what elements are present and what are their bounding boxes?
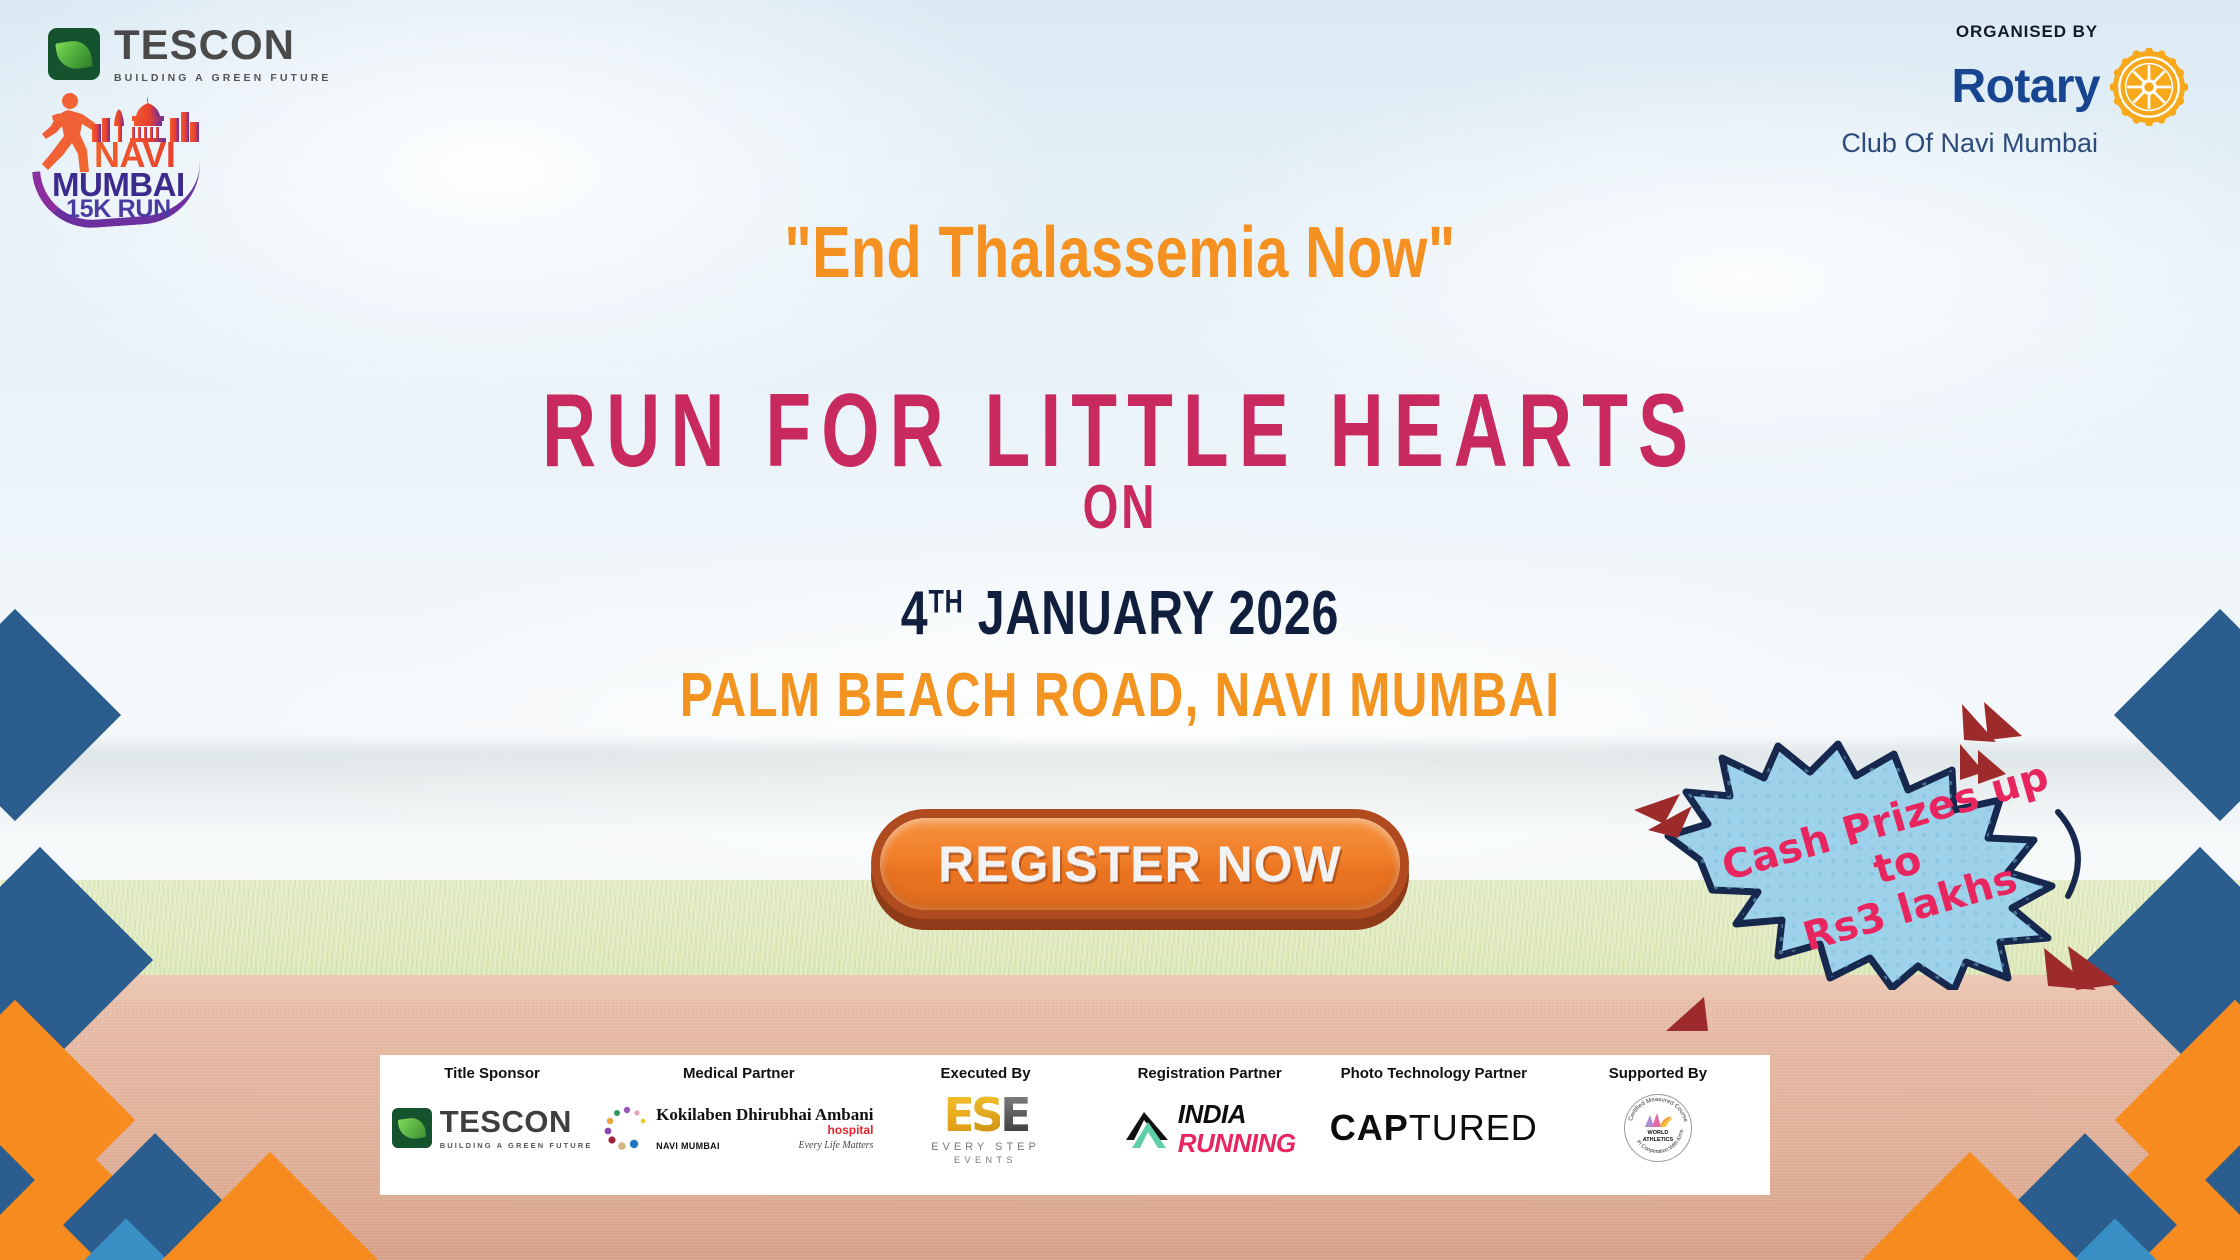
sponsor-caption: Title Sponsor [444, 1065, 540, 1082]
svg-text:Certified Measured Course: Certified Measured Course [1628, 1097, 1688, 1123]
burst-spark-icon [1630, 790, 1720, 850]
organised-by-label: ORGANISED BY [1841, 22, 2098, 42]
kdah-logo-text: Kokilaben Dhirubhai Ambani [656, 1105, 873, 1125]
sponsor-bar: Title Sponsor TESCON BUILDING A GREEN FU… [380, 1055, 1770, 1195]
register-now-button[interactable]: REGISTER NOW [880, 818, 1400, 910]
navi-mumbai-15k-run-logo: NAVI MUMBAI 15K RUN [32, 88, 200, 218]
sponsor-cell-title-sponsor: Title Sponsor TESCON BUILDING A GREEN FU… [380, 1055, 604, 1164]
date-month-year: JANUARY 2026 [978, 579, 1339, 648]
rotary-wordmark: Rotary [1952, 63, 2100, 111]
tescon-logo-text: TESCON [440, 1106, 593, 1137]
campaign-tagline: "End Thalassemia Now" [224, 212, 2016, 294]
every-step-events-logo: ESE EVERY STEP EVENTS [931, 1092, 1040, 1165]
tescon-wordmark: TESCON [114, 24, 332, 66]
kdah-tagline: Every Life Matters [798, 1140, 873, 1152]
sponsor-cell-photo-technology-partner: Photo Technology Partner CAPTURED [1322, 1055, 1546, 1164]
tescon-logo: TESCON BUILDING A GREEN FUTURE [392, 1106, 593, 1150]
india-running-text-top: INDIA [1178, 1101, 1296, 1127]
event-date: 4TH JANUARY 2026 [246, 578, 1993, 649]
sponsor-cell-registration-partner: Registration Partner INDIA RUNNING [1098, 1055, 1322, 1164]
organiser-block: ORGANISED BY Rotary [1841, 22, 2188, 159]
burst-spark-icon [1660, 985, 1740, 1045]
india-running-logo: INDIA RUNNING [1124, 1101, 1296, 1156]
sponsor-cell-executed-by: Executed By ESE EVERY STEP EVENTS [873, 1055, 1097, 1164]
world-athletics-ring-text: Certified Measured Course In Cooperation… [1625, 1095, 1691, 1161]
rotary-club-name: Club Of Navi Mumbai [1841, 128, 2098, 159]
captured-text-bold: CAP [1330, 1107, 1409, 1149]
tescon-leaf-icon [392, 1108, 432, 1148]
kdah-logo-sub: hospital [656, 1124, 873, 1138]
sponsor-caption: Executed By [941, 1065, 1031, 1082]
svg-text:In Cooperation With Aims: In Cooperation With Aims [1635, 1129, 1685, 1155]
date-day: 4 [901, 579, 929, 648]
event-venue: PALM BEACH ROAD, NAVI MUMBAI [224, 660, 2016, 731]
tescon-header-logo: TESCON BUILDING A GREEN FUTURE [48, 24, 332, 84]
captured-text-light: TURED [1409, 1107, 1538, 1149]
burst-spark-icon [2040, 940, 2130, 1010]
ese-logo-sub: EVERY STEP [931, 1141, 1040, 1153]
sponsor-caption: Registration Partner [1138, 1065, 1282, 1082]
sponsor-caption: Photo Technology Partner [1341, 1065, 1527, 1082]
register-button-wrapper: REGISTER NOW [880, 818, 1400, 918]
on-label: ON [291, 472, 1949, 543]
tescon-leaf-icon [48, 28, 100, 80]
logo-text-15k-run: 15K RUN [66, 195, 171, 224]
kdah-city: NAVI MUMBAI [656, 1141, 720, 1151]
burst-spark-icon [1950, 700, 2030, 760]
world-athletics-certified-course-badge: WORLD ATHLETICS Certified Measured Cours… [1624, 1094, 1692, 1162]
kdah-circle-dots-icon [604, 1105, 650, 1151]
tescon-logo-sub: BUILDING A GREEN FUTURE [440, 1142, 593, 1150]
sponsor-caption: Medical Partner [683, 1065, 795, 1082]
tescon-tagline: BUILDING A GREEN FUTURE [114, 73, 332, 84]
sponsor-cell-supported-by: Supported By WORLD ATHLETICS [1546, 1055, 1770, 1164]
sponsor-caption: Supported By [1609, 1065, 1707, 1082]
captured-logo: CAPTURED [1330, 1107, 1538, 1149]
india-running-text-bottom: RUNNING [1178, 1130, 1296, 1156]
sponsor-cell-medical-partner: Medical Partner Kokila [604, 1055, 873, 1164]
kokilaben-dhirubhai-ambani-hospital-logo: Kokilaben Dhirubhai Ambani hospital NAVI… [604, 1105, 873, 1152]
ese-monogram: ESE [944, 1092, 1028, 1138]
event-poster: TESCON BUILDING A GREEN FUTURE [0, 0, 2240, 1260]
rotary-wheel-icon [2110, 48, 2188, 126]
date-ordinal: TH [928, 583, 963, 619]
india-running-chevron-icon [1124, 1106, 1170, 1150]
ese-logo-sub2: EVENTS [954, 1155, 1017, 1165]
